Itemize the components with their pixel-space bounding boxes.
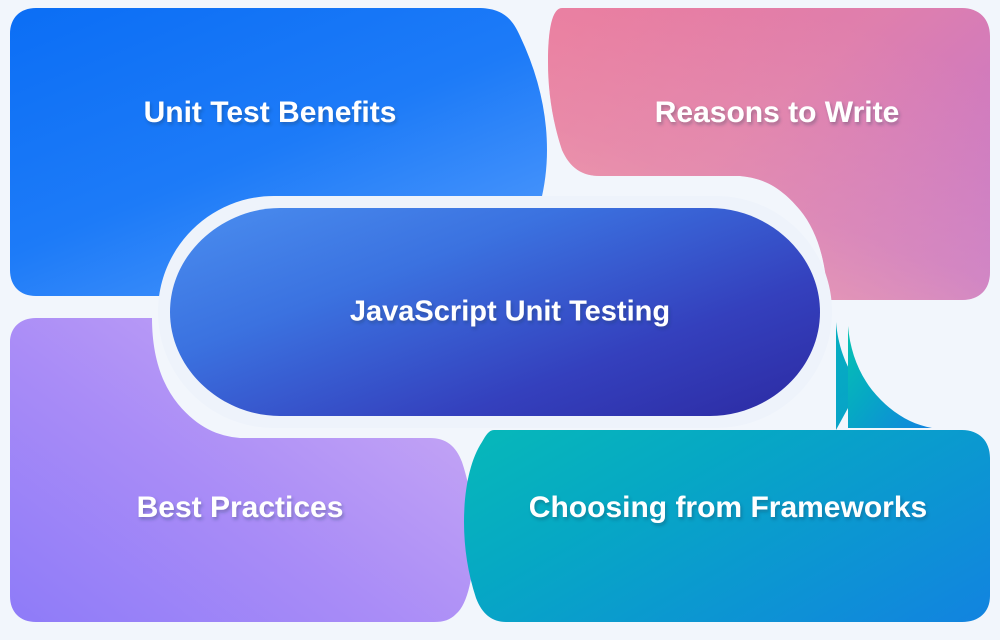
branch-top-left-label: Unit Test Benefits (144, 96, 397, 129)
center-node[interactable]: JavaScript Unit Testing (158, 196, 832, 428)
branch-bottom-left-label: Best Practices (137, 491, 344, 524)
center-node-label: JavaScript Unit Testing (350, 296, 670, 328)
branch-top-right-label: Reasons to Write (655, 96, 900, 129)
diagram-canvas: Unit Test Benefits Reasons to Write Best… (0, 0, 1000, 640)
branch-bottom-right-label: Choosing from Frameworks (529, 491, 927, 524)
quadrant-mind-map: Unit Test Benefits Reasons to Write Best… (0, 0, 1000, 640)
